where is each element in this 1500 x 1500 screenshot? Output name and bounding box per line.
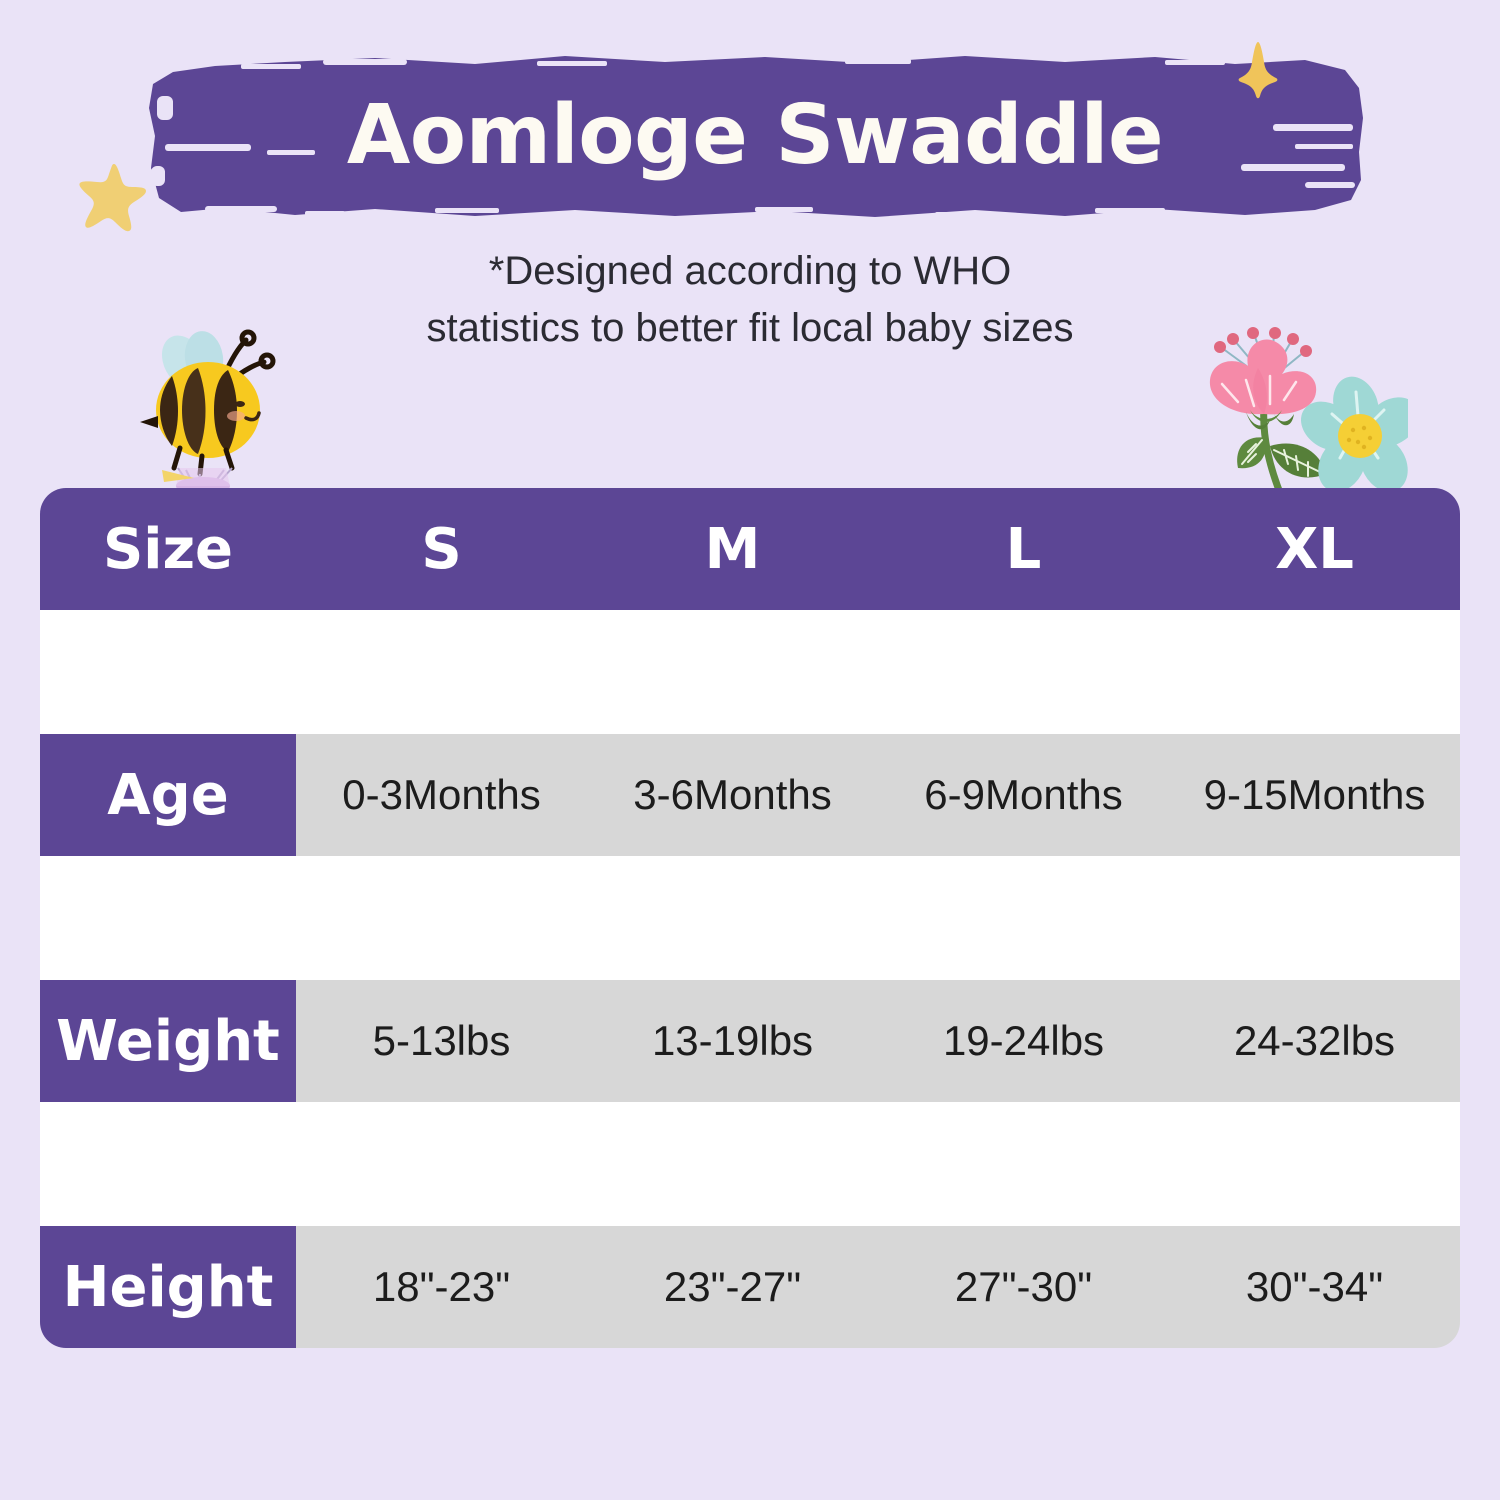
table-row: Age 0-3Months 3-6Months 6-9Months 9-15Mo… <box>40 734 1460 856</box>
cell-age-l: 6-9Months <box>878 734 1169 856</box>
cell-weight-m: 13-19lbs <box>587 980 878 1102</box>
table-spacer-row <box>40 856 1460 980</box>
size-chart-table: Size S M L XL Age 0-3Months 3-6Months 6-… <box>40 488 1460 1348</box>
row-label-weight: Weight <box>40 980 296 1102</box>
header-cell-m: M <box>587 488 878 610</box>
cell-height-xl: 30"-34" <box>1169 1226 1460 1348</box>
cell-weight-s: 5-13lbs <box>296 980 587 1102</box>
cell-weight-xl: 24-32lbs <box>1169 980 1460 1102</box>
spacer-cell <box>1169 610 1460 734</box>
row-label-height: Height <box>40 1226 296 1348</box>
bee-illustration <box>128 318 278 508</box>
star-small-icon <box>1236 40 1280 100</box>
spacer-cell <box>1169 1102 1460 1226</box>
spacer-cell <box>40 1102 296 1226</box>
header-cell-xl: XL <box>1169 488 1460 610</box>
cell-age-xl: 9-15Months <box>1169 734 1460 856</box>
header-cell-size: Size <box>40 488 296 610</box>
cell-age-s: 0-3Months <box>296 734 587 856</box>
spacer-cell <box>40 856 296 980</box>
spacer-cell <box>1169 856 1460 980</box>
size-chart-page: Aomloge Swaddle *Designed according to W… <box>0 0 1500 1500</box>
header-cell-l: L <box>878 488 1169 610</box>
cell-height-m: 23"-27" <box>587 1226 878 1348</box>
subtitle-line-1: *Designed according to WHO <box>0 243 1500 300</box>
table-row: Weight 5-13lbs 13-19lbs 19-24lbs 24-32lb… <box>40 980 1460 1102</box>
spacer-cell <box>878 610 1169 734</box>
table-header-row: Size S M L XL <box>40 488 1460 610</box>
row-label-age: Age <box>40 734 296 856</box>
spacer-cell <box>296 1102 587 1226</box>
table-row: Height 18"-23" 23"-27" 27"-30" 30"-34" <box>40 1226 1460 1348</box>
spacer-cell <box>40 610 296 734</box>
spacer-cell <box>878 856 1169 980</box>
flowers-illustration <box>1178 318 1408 503</box>
spacer-cell <box>587 610 878 734</box>
spacer-cell <box>878 1102 1169 1226</box>
cell-weight-l: 19-24lbs <box>878 980 1169 1102</box>
spacer-cell <box>587 856 878 980</box>
cell-height-s: 18"-23" <box>296 1226 587 1348</box>
table-spacer-row <box>40 610 1460 734</box>
title-banner: Aomloge Swaddle <box>145 48 1365 223</box>
spacer-cell <box>587 1102 878 1226</box>
cell-height-l: 27"-30" <box>878 1226 1169 1348</box>
cell-age-m: 3-6Months <box>587 734 878 856</box>
spacer-cell <box>296 610 587 734</box>
table-spacer-row <box>40 1102 1460 1226</box>
header-cell-s: S <box>296 488 587 610</box>
spacer-cell <box>296 856 587 980</box>
star-icon <box>78 160 150 232</box>
page-title: Aomloge Swaddle <box>145 48 1365 223</box>
